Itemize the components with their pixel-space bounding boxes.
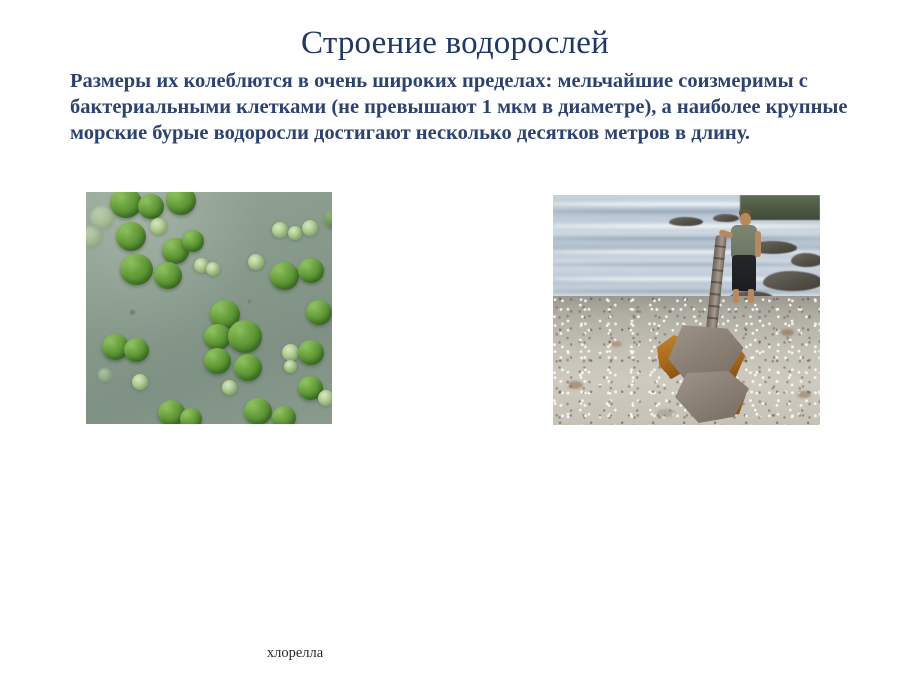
body-paragraph: Размеры их колеблются в очень широких пр… [70, 68, 852, 146]
headland [740, 195, 820, 220]
caption-chlorella: хлорелла [172, 644, 418, 663]
figure-laminaria: ламинария (морская капуста) [553, 195, 820, 425]
figure-chlorella: хлорелла [86, 192, 332, 424]
page-title: Строение водорослей [0, 24, 910, 62]
laminaria-beach-image [553, 195, 820, 425]
slide: Строение водорослей Размеры их колеблютс… [0, 0, 910, 513]
chlorella-micrograph-image [86, 192, 332, 424]
